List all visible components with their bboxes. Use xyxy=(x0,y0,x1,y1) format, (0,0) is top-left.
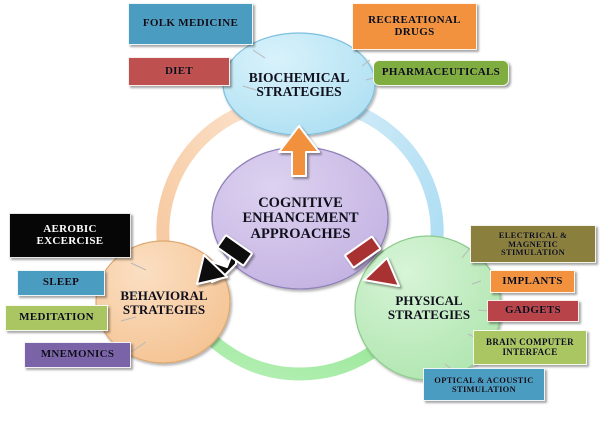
item-diet[interactable]: DIET xyxy=(128,57,230,86)
item-folk-medicine[interactable]: FOLK MEDICINE xyxy=(128,3,253,45)
item-recreational-drugs[interactable]: RECREATIONAL DRUGS xyxy=(352,3,477,50)
item-brain-computer-interface[interactable]: BRAIN COMPUTER INTERFACE xyxy=(473,330,587,365)
cognitive-enhancement-diagram: BIOCHEMICAL STRATEGIES BEHAVIORAL STRATE… xyxy=(0,0,600,429)
item-meditation[interactable]: MEDITATION xyxy=(5,305,108,331)
item-implants[interactable]: IMPLANTS xyxy=(490,270,575,293)
item-electrical-magnetic-stimulation[interactable]: ELECTRICAL & MAGNETIC STIMULATION xyxy=(470,225,596,263)
item-optical-acoustic-stimulation[interactable]: OPTICAL & ACOUSTIC STIMULATION xyxy=(423,368,545,401)
item-mnemonics[interactable]: MNEMONICS xyxy=(24,342,131,368)
item-sleep[interactable]: SLEEP xyxy=(17,270,105,296)
item-aerobic-excercise-label: AEROBIC EXCERCISE xyxy=(10,224,130,247)
item-gadgets[interactable]: GADGETS xyxy=(487,300,579,322)
item-pharmaceuticals[interactable]: PHARMACEUTICALS xyxy=(373,60,509,86)
item-aerobic-excercise[interactable]: AEROBIC EXCERCISE xyxy=(9,213,131,258)
